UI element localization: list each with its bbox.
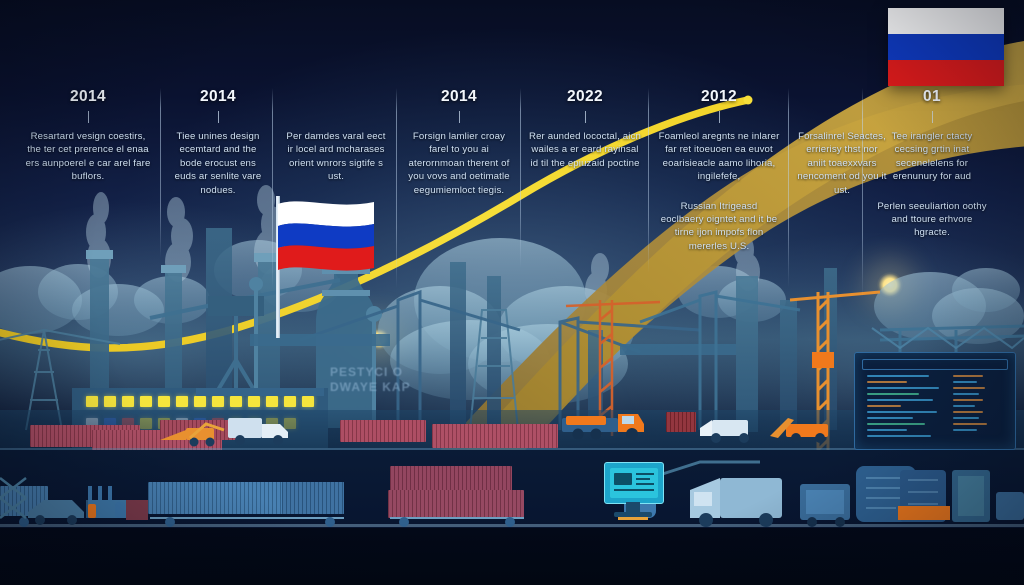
timeline-column-5[interactable]: 2022 Rer aunded lococtal, aicn wailes a … [528,88,642,170]
timeline-tick [932,111,933,123]
column-divider [160,88,161,258]
timeline-column-8[interactable]: 01 Tee irangler ctacty cecsing grtin ina… [874,88,990,240]
column-divider [396,88,397,288]
timeline-year: 2014 [404,88,514,106]
timeline-body: Per damdes varal eect ir locel ard mchar… [284,130,388,184]
timeline-tick [585,111,586,123]
data-board [854,352,1016,450]
column-divider [272,88,273,288]
timeline-body: Rer aunded lococtal, aicn wailes a er ea… [528,130,642,170]
column-divider [648,88,649,273]
timeline-column-6[interactable]: 2012 Foamleol aregnts ne inlarer far ret… [658,88,780,253]
bottom-band [0,528,1024,585]
timeline-year [284,88,388,106]
column-divider [788,88,789,288]
terminal-stand [626,502,640,512]
timeline-year: 2012 [658,88,780,106]
timeline-body-secondary: Russian Itrigeasd eoclbaery oigntet and … [658,200,780,254]
timeline-body-secondary: Perlen seeuliartion oothy and ttoure erh… [874,200,990,240]
timeline-column-2[interactable]: 2014 Tiee unines design ecemtard and the… [170,88,266,197]
timeline-tick [218,111,219,123]
column-divider [520,88,521,268]
timeline-body: Resartard vesign coestirs, the ter cet p… [24,130,152,184]
timeline-year: 2022 [528,88,642,106]
timeline-body: Foamleol aregnts ne inlarer far ret itoe… [658,130,780,184]
infographic-canvas: PESTYCI O DWAYE KAP [0,0,1024,585]
timeline-header: 2014 Resartard vesign coestirs, the ter … [0,0,1024,300]
timeline-column-4[interactable]: 2014 Forsign lamlier croay farel to you … [404,88,514,197]
timeline-tick [459,111,460,123]
timeline-tick [719,111,720,123]
timeline-column-3[interactable]: Per damdes varal eect ir locel ard mchar… [284,88,388,184]
timeline-body: Tiee unines design ecemtard and the bode… [170,130,266,197]
timeline-body: Tee irangler ctacty cecsing grtin inat s… [874,130,990,184]
timeline-body: Forsign lamlier croay farel to you ai at… [404,130,514,197]
terminal-base [614,512,652,517]
timeline-year: 2014 [24,88,152,106]
timeline-year: 01 [874,88,990,106]
timeline-column-1[interactable]: 2014 Resartard vesign coestirs, the ter … [24,88,152,184]
terminal-screen-teal [604,462,664,504]
timeline-tick [88,111,89,123]
timeline-year: 2014 [170,88,266,106]
